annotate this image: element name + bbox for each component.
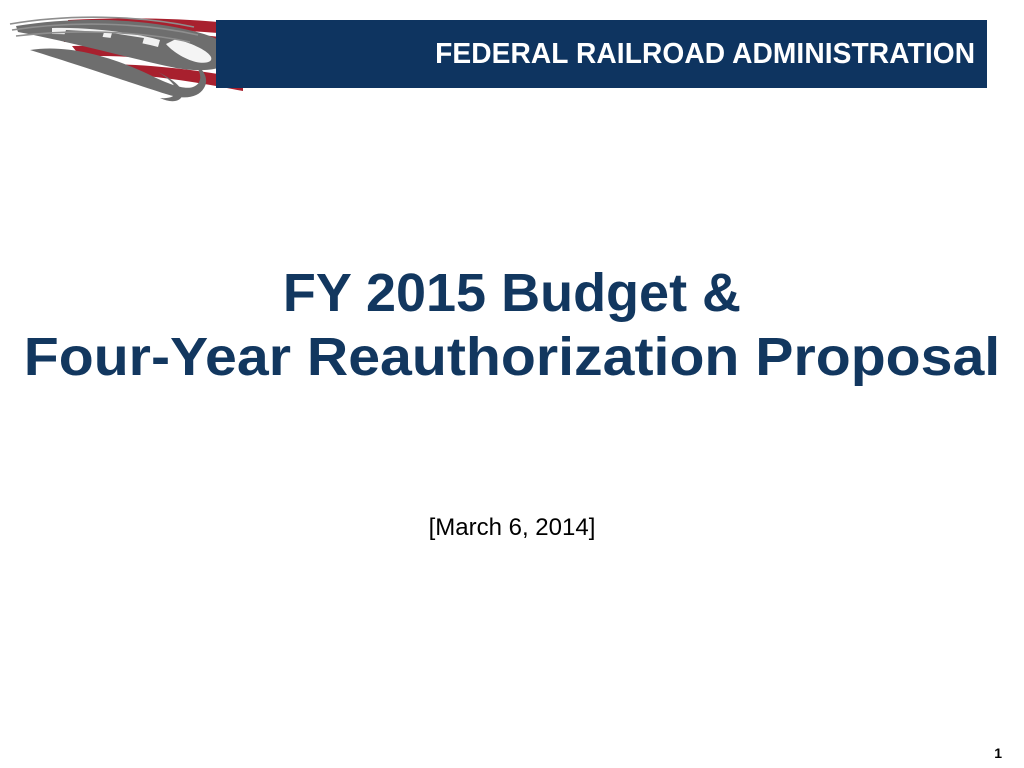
slide-header: FEDERAL RAILROAD ADMINISTRATION	[0, 0, 1024, 110]
slide-title-line-2: Four-Year Reauthorization Proposal	[0, 326, 1024, 390]
header-title-text: FEDERAL RAILROAD ADMINISTRATION	[435, 38, 987, 71]
page-number: 1	[994, 746, 1002, 760]
slide-title-block: FY 2015 Budget & Four-Year Reauthorizati…	[0, 262, 1024, 389]
slide-title-line-1: FY 2015 Budget &	[0, 262, 1024, 326]
slide-date: [March 6, 2014]	[0, 514, 1024, 542]
header-title-bar: FEDERAL RAILROAD ADMINISTRATION	[216, 20, 987, 88]
